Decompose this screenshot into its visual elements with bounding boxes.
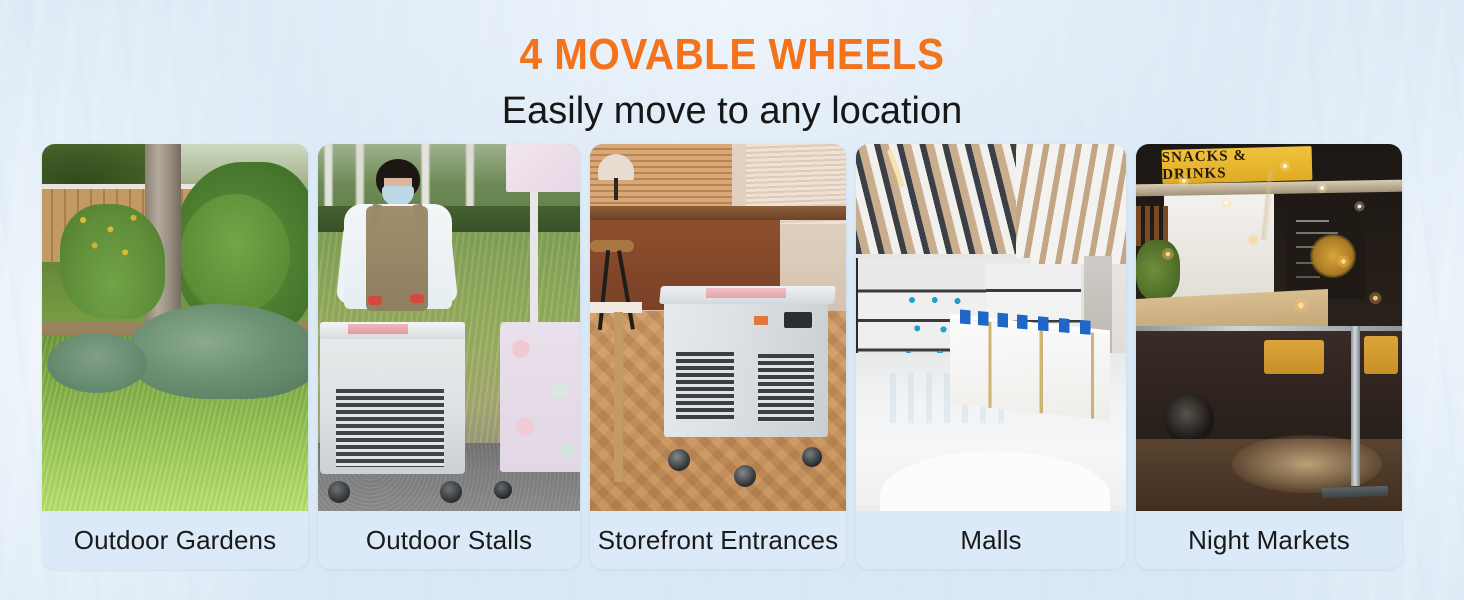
store-stool-seat [590,240,634,252]
store-bar-counter-top [590,206,846,220]
photo-outdoor-gardens [42,144,308,511]
machine-caster-front-left [668,449,690,471]
use-case-card-malls: Malls [856,144,1126,569]
vendor-scraper-right [410,294,424,303]
garden-blue-shrub-small [47,333,147,393]
machine-vent-grille [336,389,444,467]
stall-menu-sign [506,144,580,192]
photo-malls [856,144,1126,511]
card-caption: Storefront Entrances [590,511,846,569]
card-caption: Outdoor Gardens [42,511,308,569]
banner-title: 4 MOVABLE WHEELS [59,30,1406,80]
truck-plaque-sign-secondary [1364,336,1398,374]
machine-control-panel [784,312,812,328]
use-case-card-night-markets: SNACKS & DRINKS Night Markets [1136,144,1402,569]
store-side-table-leg [614,312,623,482]
machine-vent-grille-right [758,354,814,422]
stall-cart-wheel [494,481,512,499]
use-case-card-outdoor-gardens: Outdoor Gardens [42,144,308,569]
machine-caster-right [440,481,462,503]
barrier-rail [1136,326,1402,331]
truck-plaque-sign [1264,340,1324,374]
banner-headings: 4 MOVABLE WHEELS Easily move to any loca… [0,0,1464,133]
promo-banner: 4 MOVABLE WHEELS Easily move to any loca… [0,0,1464,600]
garden-bush-right-inner [180,194,290,314]
garden-flower-bed [60,204,165,319]
stall-decorated-cart [500,322,580,472]
truck-tyre [1164,394,1214,444]
garden-blue-shrub [128,304,308,399]
mall-ceiling-right [1016,144,1126,264]
machine-vent-grille-left [676,352,734,422]
photo-night-markets: SNACKS & DRINKS [1136,144,1402,511]
banner-subtitle: Easily move to any location [0,89,1464,133]
barrier-pole [1351,326,1360,486]
photo-storefront-entrances [590,144,846,511]
use-case-card-row: Outdoor Gardens [42,144,1416,569]
card-caption: Night Markets [1136,511,1402,569]
photo-outdoor-stalls [318,144,580,511]
store-lamp-stem [614,178,618,200]
card-caption: Outdoor Stalls [318,511,580,569]
machine-cold-pan [706,288,786,298]
machine-caster-left [328,481,350,503]
use-case-card-outdoor-stalls: Outdoor Stalls [318,144,580,569]
machine-brand-badge [754,316,768,325]
vendor-scraper-left [368,296,382,305]
machine-caster-front-right [734,465,756,487]
machine-cold-pan [348,324,408,334]
truck-produce-display [1136,240,1180,300]
hanging-plant [1310,234,1356,278]
machine-caster-rear [802,447,822,467]
card-caption: Malls [856,511,1126,569]
use-case-card-storefront-entrances: Storefront Entrances [590,144,846,569]
string-light-wire [1136,170,1402,240]
